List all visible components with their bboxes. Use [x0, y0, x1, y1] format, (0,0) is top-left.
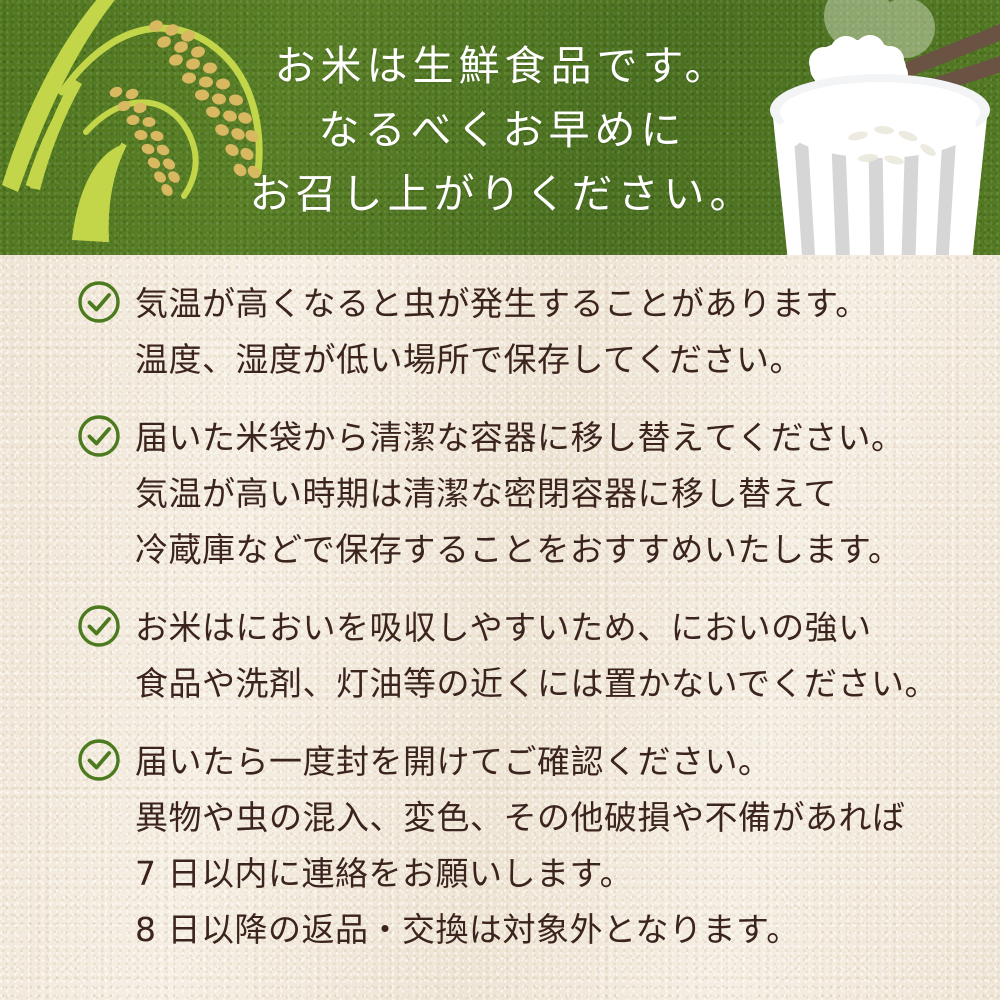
plain-text: 7 日以内に連絡をお願いします。: [135, 854, 633, 893]
plain-text: 冷蔵庫などで保存することをおすすめいたします。: [135, 530, 902, 569]
check-circle-icon: [76, 413, 122, 459]
tip-line: 7 日以内に連絡をお願いします。: [135, 846, 1000, 902]
highlighted-text: 8 日以降の返品・交換は対象外: [135, 902, 603, 958]
header-heading: お米は生鮮食品です。 なるべくお早めに お召し上がりください。: [0, 34, 1000, 226]
tip-line: 異物や虫の混入、変色、その他破損や不備があれば: [135, 790, 1000, 846]
tip-line: 気温が高くなると虫が発生することがあります。: [135, 276, 1000, 332]
tip-line: 冷蔵庫などで保存することをおすすめいたします。: [135, 522, 1000, 578]
highlighted-text: においの強い: [671, 600, 872, 656]
plain-text: お米はにおいを吸収しやすいため、: [135, 608, 671, 647]
rice-storage-infographic: お米は生鮮食品です。 なるべくお早めに お召し上がりください。 気温が高くなると…: [0, 0, 1000, 1000]
tip-line: 届いた米袋から清潔な容器に移し替えてください。: [135, 410, 1000, 466]
check-circle-icon: [76, 279, 122, 325]
plain-text: 気温が高くなると虫が発生することがあります。: [135, 284, 869, 323]
check-circle-icon: [76, 737, 122, 783]
plain-text: となります。: [603, 910, 800, 949]
list-item: 気温が高くなると虫が発生することがあります。温度、湿度が低い場所で保存してくださ…: [0, 276, 1000, 388]
storage-tips-list: 気温が高くなると虫が発生することがあります。温度、湿度が低い場所で保存してくださ…: [0, 276, 1000, 980]
heading-line-1: お米は生鮮食品です。: [0, 34, 1000, 98]
plain-text: ください。: [771, 664, 939, 703]
tip-line: 食品や洗剤、灯油等の近くには置かないでください。: [135, 656, 1000, 712]
tip-line: 8 日以降の返品・交換は対象外となります。: [135, 902, 1000, 958]
tip-line: 気温が高い時期は清潔な密閉容器に移し替えて: [135, 466, 1000, 522]
plain-text: てください。: [705, 418, 905, 457]
tip-line: お米はにおいを吸収しやすいため、においの強い: [135, 600, 1000, 656]
plain-text: してください。: [571, 340, 804, 379]
tip-line: 届いたら一度封を開けてご確認ください。: [135, 734, 1000, 790]
highlighted-text: 温度、湿度が低い場所で保存: [135, 332, 571, 388]
highlighted-text: 食品や洗剤、灯油等の近くには置かないで: [135, 656, 771, 712]
plain-text: 気温が高い時期は清潔な密閉容器に移し替えて: [135, 474, 837, 513]
heading-line-2: なるべくお早めに: [0, 98, 1000, 162]
check-circle-icon: [76, 603, 122, 649]
header-band: お米は生鮮食品です。 なるべくお早めに お召し上がりください。: [0, 0, 1000, 255]
highlighted-text: 清潔な容器に移し替え: [370, 410, 705, 466]
list-item: お米はにおいを吸収しやすいため、においの強い食品や洗剤、灯油等の近くには置かない…: [0, 600, 1000, 712]
list-item: 届いたら一度封を開けてご確認ください。異物や虫の混入、変色、その他破損や不備があ…: [0, 734, 1000, 958]
tip-line: 温度、湿度が低い場所で保存してください。: [135, 332, 1000, 388]
plain-text: 届いた米袋から: [135, 418, 370, 457]
heading-line-3: お召し上がりください。: [0, 162, 1000, 226]
plain-text: 届いたら一度封を開けてご確認ください。: [135, 742, 772, 781]
list-item: 届いた米袋から清潔な容器に移し替えてください。気温が高い時期は清潔な密閉容器に移…: [0, 410, 1000, 578]
plain-text: 異物や虫の混入、変色、その他破損や不備があれば: [135, 798, 906, 837]
